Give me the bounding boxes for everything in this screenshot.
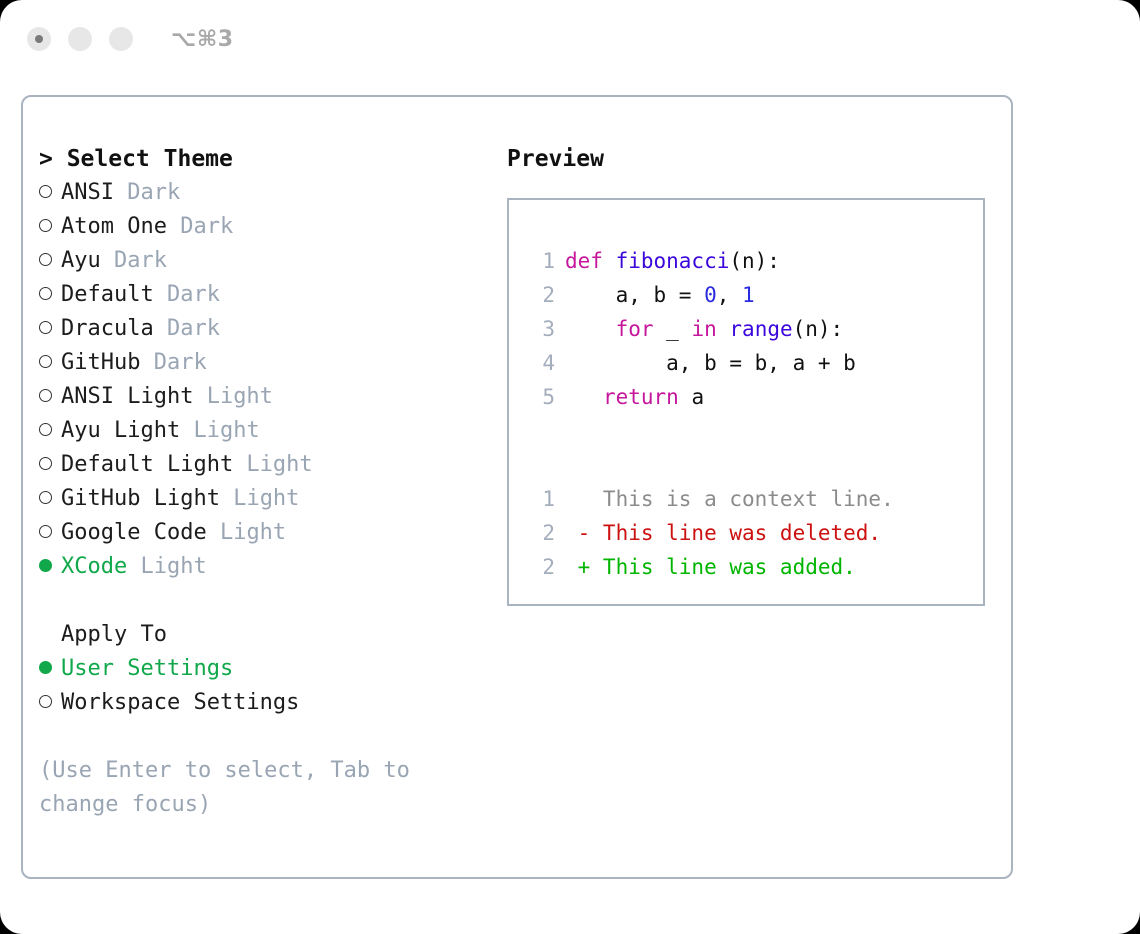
theme-item-6[interactable]: ANSI Light Light	[39, 380, 507, 414]
theme-item-label: XCode	[61, 550, 127, 584]
theme-list[interactable]: ANSI DarkAtom One DarkAyu DarkDefault Da…	[39, 176, 507, 584]
code-token-kw: for	[616, 317, 654, 341]
diff-line-number: 1	[527, 482, 565, 516]
theme-item-label: Default Light	[61, 448, 233, 482]
code-line-text: a, b = 0, 1	[565, 278, 755, 312]
radio-unselected-icon	[39, 278, 61, 312]
code-line-text: for _ in range(n):	[565, 312, 843, 346]
code-blank-line	[527, 414, 983, 448]
theme-item-5[interactable]: GitHub Dark	[39, 346, 507, 380]
radio-unselected-icon	[39, 244, 61, 278]
radio-filled-icon	[39, 661, 52, 674]
code-line-text: a, b = b, a + b	[565, 346, 856, 380]
code-token-kw: return	[603, 385, 679, 409]
radio-empty-icon	[39, 185, 52, 198]
radio-selected-icon	[39, 652, 61, 686]
theme-item-label: GitHub	[61, 346, 140, 380]
keyboard-hint: (Use Enter to select, Tab to change focu…	[39, 754, 459, 822]
diff-line: 2 + This line was added.	[527, 550, 983, 584]
theme-item-label: ANSI Light	[61, 380, 193, 414]
code-line-number: 4	[527, 346, 565, 380]
code-token-num: 0	[704, 283, 717, 307]
code-line: 2 a, b = 0, 1	[527, 278, 983, 312]
theme-item-variant-tag: Dark	[101, 244, 167, 278]
diff-line-text-add: + This line was added.	[565, 550, 856, 584]
code-token-pl	[717, 317, 730, 341]
theme-picker-column: > Select Theme ANSI DarkAtom One DarkAyu…	[39, 142, 507, 822]
theme-item-8[interactable]: Default Light Light	[39, 448, 507, 482]
theme-item-3[interactable]: Default Dark	[39, 278, 507, 312]
theme-item-label: Google Code	[61, 516, 207, 550]
theme-item-7[interactable]: Ayu Light Light	[39, 414, 507, 448]
radio-unselected-icon	[39, 414, 61, 448]
diff-line-text-ctx: This is a context line.	[565, 482, 894, 516]
theme-item-variant-tag: Light	[220, 482, 299, 516]
preview-code-box: 1def fibonacci(n):2 a, b = 0, 13 for _ i…	[507, 198, 985, 606]
radio-empty-icon	[39, 287, 52, 300]
panel-columns: > Select Theme ANSI DarkAtom One DarkAyu…	[23, 97, 1011, 822]
radio-unselected-icon	[39, 482, 61, 516]
radio-empty-icon	[39, 695, 52, 708]
theme-item-label: Ayu Light	[61, 414, 180, 448]
apply-to-item-0[interactable]: User Settings	[39, 652, 507, 686]
radio-filled-icon	[39, 559, 52, 572]
radio-empty-icon	[39, 219, 52, 232]
radio-empty-icon	[39, 321, 52, 334]
radio-unselected-icon	[39, 346, 61, 380]
code-token-pl: ,	[717, 283, 742, 307]
code-token-pl: (n):	[729, 249, 780, 273]
window-dot-icon[interactable]	[68, 27, 92, 51]
apply-to-item-label: Workspace Settings	[61, 686, 299, 720]
code-line-text: def fibonacci(n):	[565, 244, 780, 278]
theme-item-variant-tag: Light	[127, 550, 206, 584]
theme-item-label: Ayu	[61, 244, 101, 278]
code-token-num: 1	[742, 283, 755, 307]
code-blank-line	[527, 448, 983, 482]
code-token-pl	[565, 385, 603, 409]
code-token-pl	[565, 317, 616, 341]
diff-line-text-del: - This line was deleted.	[565, 516, 881, 550]
radio-unselected-icon	[39, 312, 61, 346]
code-line: 3 for _ in range(n):	[527, 312, 983, 346]
theme-item-4[interactable]: Dracula Dark	[39, 312, 507, 346]
code-token-fn: fibonacci	[616, 249, 730, 273]
select-theme-heading: > Select Theme	[39, 142, 507, 176]
section-spacer	[39, 584, 507, 618]
preview-column: Preview 1def fibonacci(n):2 a, b = 0, 13…	[507, 142, 1011, 822]
theme-item-variant-tag: Light	[233, 448, 312, 482]
theme-item-10[interactable]: Google Code Light	[39, 516, 507, 550]
code-line: 4 a, b = b, a + b	[527, 346, 983, 380]
theme-item-variant-tag: Light	[207, 516, 286, 550]
theme-item-variant-tag: Dark	[154, 278, 220, 312]
code-token-pl: (n):	[793, 317, 844, 341]
apply-to-item-1[interactable]: Workspace Settings	[39, 686, 507, 720]
app-window: ⌥⌘3 > Select Theme ANSI DarkAtom One Dar…	[0, 0, 1140, 934]
radio-unselected-icon	[39, 176, 61, 210]
radio-selected-icon	[39, 550, 61, 584]
theme-item-variant-tag: Light	[193, 380, 272, 414]
code-line-number: 2	[527, 278, 565, 312]
radio-empty-icon	[39, 491, 52, 504]
theme-item-label: GitHub Light	[61, 482, 220, 516]
radio-empty-icon	[39, 253, 52, 266]
radio-empty-icon	[39, 525, 52, 538]
radio-empty-icon	[39, 457, 52, 470]
main-panel: > Select Theme ANSI DarkAtom One DarkAyu…	[21, 95, 1013, 879]
code-line-number: 5	[527, 380, 565, 414]
code-token-pl: a, b = b, a + b	[565, 351, 856, 375]
apply-to-heading-row: Apply To	[39, 618, 507, 652]
radio-unselected-icon	[39, 516, 61, 550]
code-line-number: 3	[527, 312, 565, 346]
code-line: 5 return a	[527, 380, 983, 414]
theme-item-1[interactable]: Atom One Dark	[39, 210, 507, 244]
theme-item-2[interactable]: Ayu Dark	[39, 244, 507, 278]
theme-item-11[interactable]: XCode Light	[39, 550, 507, 584]
code-token-pl: a	[679, 385, 704, 409]
radio-empty-icon	[39, 423, 52, 436]
title-bar: ⌥⌘3	[0, 0, 1140, 78]
theme-item-variant-tag: Light	[180, 414, 259, 448]
code-token-pl: a, b =	[565, 283, 704, 307]
theme-item-0[interactable]: ANSI Dark	[39, 176, 507, 210]
code-token-pl: _	[654, 317, 692, 341]
theme-item-9[interactable]: GitHub Light Light	[39, 482, 507, 516]
code-sample: 1def fibonacci(n):2 a, b = 0, 13 for _ i…	[527, 244, 983, 414]
apply-to-item-label: User Settings	[61, 652, 233, 686]
theme-item-label: Atom One	[61, 210, 167, 244]
diff-line-number: 2	[527, 550, 565, 584]
preview-heading: Preview	[507, 142, 1011, 176]
diff-line: 1 This is a context line.	[527, 482, 983, 516]
theme-item-label: Dracula	[61, 312, 154, 346]
radio-empty-icon	[39, 389, 52, 402]
theme-item-variant-tag: Dark	[140, 346, 206, 380]
theme-item-variant-tag: Dark	[167, 210, 233, 244]
window-dot-inner	[35, 35, 43, 43]
diff-line-number: 2	[527, 516, 565, 550]
code-line: 1def fibonacci(n):	[527, 244, 983, 278]
code-token-fn: range	[729, 317, 792, 341]
diff-line: 2 - This line was deleted.	[527, 516, 983, 550]
radio-unselected-icon	[39, 380, 61, 414]
code-token-kw: in	[691, 317, 716, 341]
apply-to-heading-label: Apply To	[61, 618, 167, 652]
window-controls	[27, 27, 133, 51]
keyboard-shortcut-label: ⌥⌘3	[171, 27, 234, 52]
code-line-text: return a	[565, 380, 704, 414]
code-line-number: 1	[527, 244, 565, 278]
radio-unselected-icon	[39, 448, 61, 482]
theme-item-label: Default	[61, 278, 154, 312]
radio-empty-icon	[39, 355, 52, 368]
radio-unselected-icon	[39, 686, 61, 720]
theme-item-variant-tag: Dark	[114, 176, 180, 210]
apply-to-list[interactable]: User SettingsWorkspace Settings	[39, 652, 507, 720]
code-token-kw: def	[565, 249, 616, 273]
theme-item-variant-tag: Dark	[154, 312, 220, 346]
theme-item-label: ANSI	[61, 176, 114, 210]
radio-unselected-icon	[39, 210, 61, 244]
window-dot-icon[interactable]	[109, 27, 133, 51]
diff-sample: 1 This is a context line.2 - This line w…	[527, 482, 983, 584]
window-dot-active-icon[interactable]	[27, 27, 51, 51]
